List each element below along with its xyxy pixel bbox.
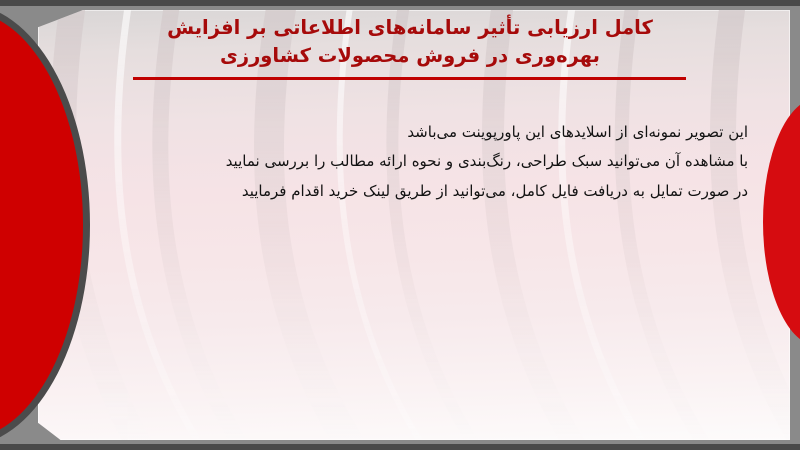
slide-body-line-1: این تصویر نمونه‌ای از اسلایدهای این پاور… [128, 118, 748, 147]
title-underline-rule [133, 77, 686, 80]
presentation-slide: کامل ارزیابی تأثیر سامانه‌های اطلاعاتی ب… [0, 0, 800, 450]
slide-frame-top-band [0, 0, 800, 6]
slide-body-line-3: در صورت تمایل به دریافت فایل کامل، می‌تو… [128, 177, 748, 206]
slide-body-text: این تصویر نمونه‌ای از اسلایدهای این پاور… [128, 118, 748, 206]
slide-title-line-1: کامل ارزیابی تأثیر سامانه‌های اطلاعاتی ب… [130, 14, 690, 42]
slide-frame-bottom-band [0, 444, 800, 450]
background-arcs-decoration [38, 10, 790, 440]
slide-content-panel [38, 10, 790, 440]
slide-title-line-2: بهره‌وری در فروش محصولات کشاورزی [130, 42, 690, 70]
slide-title: کامل ارزیابی تأثیر سامانه‌های اطلاعاتی ب… [130, 14, 690, 69]
slide-body-line-2: با مشاهده آن می‌توانید سبک طراحی، رنگ‌بن… [128, 147, 748, 176]
